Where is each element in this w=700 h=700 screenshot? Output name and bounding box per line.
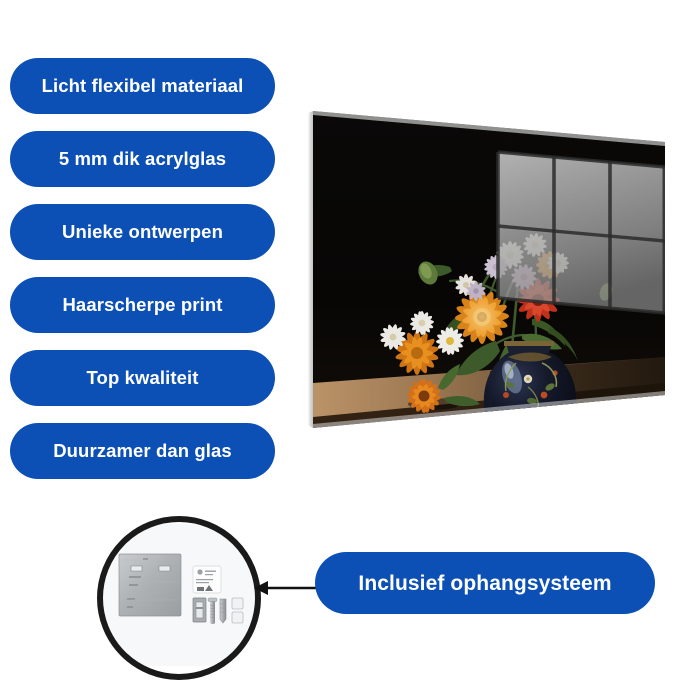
product-feature-graphic: Licht flexibel materiaal 5 mm dik acrylg… (0, 0, 700, 700)
feature-badge-5-mm-dik-acrylglas[interactable]: 5 mm dik acrylglas (10, 131, 275, 187)
feature-badge-label: Licht flexibel materiaal (42, 77, 244, 96)
acrylic-glass-panel (300, 95, 680, 445)
feature-badge-licht-flexibel-materiaal[interactable]: Licht flexibel materiaal (10, 58, 275, 114)
hanging-system-badge-label: Inclusief ophangsysteem (358, 573, 611, 594)
feature-badge-label: Unieke ontwerpen (62, 223, 223, 242)
window-reflection (498, 152, 665, 313)
instruction-sheet (193, 566, 221, 593)
panel-edge-thickness (308, 111, 313, 428)
wall-plug (220, 599, 226, 623)
hanging-kit-illustration (93, 512, 265, 684)
wall-bracket (193, 598, 206, 622)
feature-badge-haarscherpe-print[interactable]: Haarscherpe print (10, 277, 275, 333)
feature-badge-duurzamer-dan-glas[interactable]: Duurzamer dan glas (10, 423, 275, 479)
feature-badge-label: Haarscherpe print (62, 296, 222, 315)
feature-badge-label: Duurzamer dan glas (53, 442, 232, 461)
acrylic-panel-illustration (300, 95, 680, 445)
hanging-system-photo-circle (93, 512, 265, 684)
feature-badge-top-kwaliteit[interactable]: Top kwaliteit (10, 350, 275, 406)
panel-face (300, 95, 680, 455)
feature-badge-label: Top kwaliteit (87, 369, 199, 388)
hanging-kit-photo (93, 512, 265, 684)
hanging-system-badge[interactable]: Inclusief ophangsysteem (315, 552, 655, 614)
feature-badge-unieke-ontwerpen[interactable]: Unieke ontwerpen (10, 204, 275, 260)
aluminium-mounting-plate (119, 554, 181, 616)
feature-badge-label: 5 mm dik acrylglas (59, 150, 226, 169)
